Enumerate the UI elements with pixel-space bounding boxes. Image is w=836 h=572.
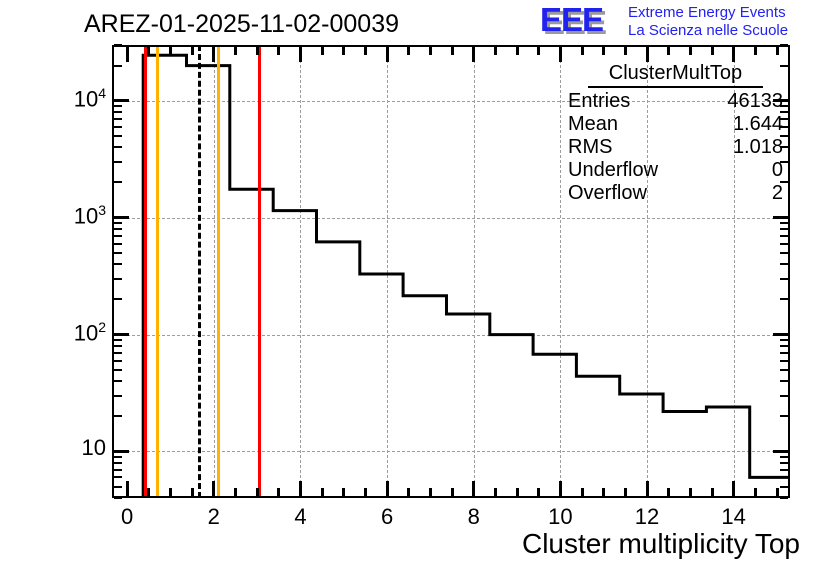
axis-tick [780, 476, 788, 478]
axis-tick [114, 456, 122, 458]
eee-logo-line2: La Scienza nelle Scuole [628, 22, 788, 39]
stats-row-key: Underflow [568, 159, 658, 182]
axis-tick [711, 47, 714, 55]
axis-tick [256, 47, 259, 55]
axis-tick [780, 235, 788, 237]
axis-tick [780, 456, 788, 458]
axis-tick [321, 47, 324, 55]
y-axis-tick-label: 104 [20, 85, 106, 112]
axis-tick [559, 47, 562, 62]
axis-tick [773, 333, 788, 336]
axis-tick [114, 111, 122, 113]
axis-tick [602, 488, 605, 496]
axis-tick [386, 47, 389, 62]
axis-tick [147, 488, 150, 496]
axis-tick [114, 243, 122, 245]
axis-tick [277, 47, 280, 55]
stats-box-title: ClusterMultTop [588, 62, 763, 88]
axis-tick [780, 228, 788, 230]
stats-row-value: 1.644 [733, 113, 783, 136]
axis-tick [169, 488, 172, 496]
axis-tick [114, 486, 122, 488]
x-axis-tick-label: 4 [260, 504, 340, 530]
axis-tick [114, 228, 122, 230]
x-axis-title: Cluster multiplicity Top [0, 528, 800, 560]
axis-tick [114, 476, 122, 478]
x-axis-tick-label: 6 [347, 504, 427, 530]
axis-tick [559, 481, 562, 496]
stats-row: Underflow0 [566, 159, 785, 182]
axis-tick [646, 481, 649, 496]
axis-tick [114, 263, 122, 265]
axis-tick [624, 47, 627, 55]
stats-row-value: 0 [772, 159, 783, 182]
axis-tick [780, 263, 788, 265]
axis-tick [689, 488, 692, 496]
axis-tick [581, 47, 584, 55]
eee-logo-line1: Extreme Energy Events [628, 4, 786, 21]
axis-tick [537, 47, 540, 55]
axis-tick [780, 278, 788, 280]
stats-row-key: RMS [568, 136, 612, 159]
stats-row-value: 1.018 [733, 136, 783, 159]
axis-tick [780, 298, 788, 300]
axis-tick [494, 47, 497, 55]
axis-tick [780, 252, 788, 254]
axis-tick [114, 99, 129, 102]
stats-row-value: 46133 [727, 90, 783, 113]
axis-tick [667, 47, 670, 55]
axis-tick [212, 481, 215, 496]
axis-tick [624, 488, 627, 496]
axis-tick [494, 488, 497, 496]
axis-tick [754, 47, 757, 55]
axis-tick [667, 488, 670, 496]
stats-row: Overflow2 [566, 182, 785, 205]
axis-tick [114, 65, 122, 67]
axis-tick [114, 181, 122, 183]
stats-row: RMS1.018 [566, 136, 785, 159]
axis-tick [169, 47, 172, 55]
axis-tick [114, 369, 122, 371]
axis-tick [780, 345, 788, 347]
stats-row-key: Entries [568, 90, 630, 113]
axis-tick [780, 222, 788, 224]
axis-tick [114, 105, 122, 107]
axis-tick [516, 488, 519, 496]
axis-tick [364, 47, 367, 55]
axis-tick [780, 369, 788, 371]
axis-tick [299, 47, 302, 62]
axis-tick [114, 298, 122, 300]
stats-row-key: Mean [568, 113, 618, 136]
x-axis-tick-label: 0 [87, 504, 167, 530]
y-axis-tick-label: 102 [20, 319, 106, 346]
axis-tick [256, 488, 259, 496]
axis-tick [429, 47, 432, 55]
axis-tick [114, 278, 122, 280]
axis-tick [299, 481, 302, 496]
axis-tick [780, 395, 788, 397]
axis-tick [689, 47, 692, 55]
axis-tick [114, 235, 122, 237]
axis-tick [780, 497, 788, 499]
axis-tick [773, 216, 788, 219]
axis-tick [114, 415, 122, 417]
axis-tick [114, 462, 122, 464]
axis-tick [321, 488, 324, 496]
axis-tick [114, 216, 129, 219]
axis-tick [114, 222, 122, 224]
axis-tick [472, 47, 475, 62]
axis-tick [581, 488, 584, 496]
axis-tick [780, 352, 788, 354]
axis-tick [212, 47, 215, 62]
axis-tick [114, 126, 122, 128]
y-axis-tick-label: 103 [20, 202, 106, 229]
axis-tick [472, 481, 475, 496]
axis-tick [114, 395, 122, 397]
axis-tick [234, 488, 237, 496]
axis-tick [386, 481, 389, 496]
axis-tick [732, 47, 735, 62]
axis-tick [602, 47, 605, 55]
axis-tick [147, 47, 150, 55]
axis-tick [277, 488, 280, 496]
y-axis-tick-label: 10 [20, 435, 106, 461]
axis-tick [114, 352, 122, 354]
stats-row-key: Overflow [568, 182, 647, 205]
axis-tick [516, 47, 519, 55]
axis-tick [646, 47, 649, 62]
axis-tick [114, 135, 122, 137]
axis-tick [114, 450, 129, 453]
axis-tick [114, 146, 122, 148]
x-axis-tick-label: 12 [607, 504, 687, 530]
axis-tick [429, 488, 432, 496]
axis-tick [364, 488, 367, 496]
axis-tick [780, 486, 788, 488]
eee-logo-mark: EEE [540, 3, 603, 36]
axis-tick [114, 497, 122, 499]
axis-tick [780, 380, 788, 382]
axis-tick [114, 333, 129, 336]
stats-box-rows: Entries46133Mean1.644RMS1.018Underflow0O… [566, 90, 785, 205]
x-axis-tick-label: 14 [694, 504, 774, 530]
axis-tick [776, 47, 779, 55]
axis-tick [537, 488, 540, 496]
axis-tick [780, 415, 788, 417]
page-title: AREZ-01-2025-11-02-00039 [84, 10, 399, 39]
axis-tick [711, 488, 714, 496]
axis-tick [754, 488, 757, 496]
axis-tick [780, 360, 788, 362]
histogram-canvas: AREZ-01-2025-11-02-00039 EEE Extreme Ene… [0, 0, 836, 572]
axis-tick [732, 481, 735, 496]
axis-tick [776, 488, 779, 496]
stats-row: Mean1.644 [566, 113, 785, 136]
axis-tick [780, 339, 788, 341]
x-axis-tick-label: 8 [434, 504, 514, 530]
axis-tick [114, 360, 122, 362]
axis-tick [114, 44, 122, 46]
axis-tick [126, 481, 129, 496]
stats-row-value: 2 [772, 182, 783, 205]
axis-tick [780, 462, 788, 464]
axis-tick [114, 380, 122, 382]
axis-tick [407, 488, 410, 496]
axis-tick [342, 47, 345, 55]
axis-tick [114, 252, 122, 254]
axis-tick [407, 47, 410, 55]
axis-tick [773, 450, 788, 453]
axis-tick [114, 339, 122, 341]
axis-tick [114, 118, 122, 120]
axis-tick [191, 488, 194, 496]
x-axis-tick-label: 10 [520, 504, 600, 530]
axis-tick [126, 47, 129, 62]
axis-tick [114, 345, 122, 347]
axis-tick [451, 488, 454, 496]
axis-tick [780, 469, 788, 471]
axis-tick [451, 47, 454, 55]
axis-tick [342, 488, 345, 496]
stats-box: ClusterMultTop Entries46133Mean1.644RMS1… [566, 62, 785, 205]
axis-tick [191, 47, 194, 55]
eee-logo: EEE Extreme Energy Events La Scienza nel… [540, 2, 832, 42]
axis-tick [234, 47, 237, 55]
axis-tick [114, 469, 122, 471]
stats-row: Entries46133 [566, 90, 785, 113]
axis-tick [780, 243, 788, 245]
axis-tick [780, 44, 788, 46]
axis-tick [114, 161, 122, 163]
x-axis-tick-label: 2 [174, 504, 254, 530]
